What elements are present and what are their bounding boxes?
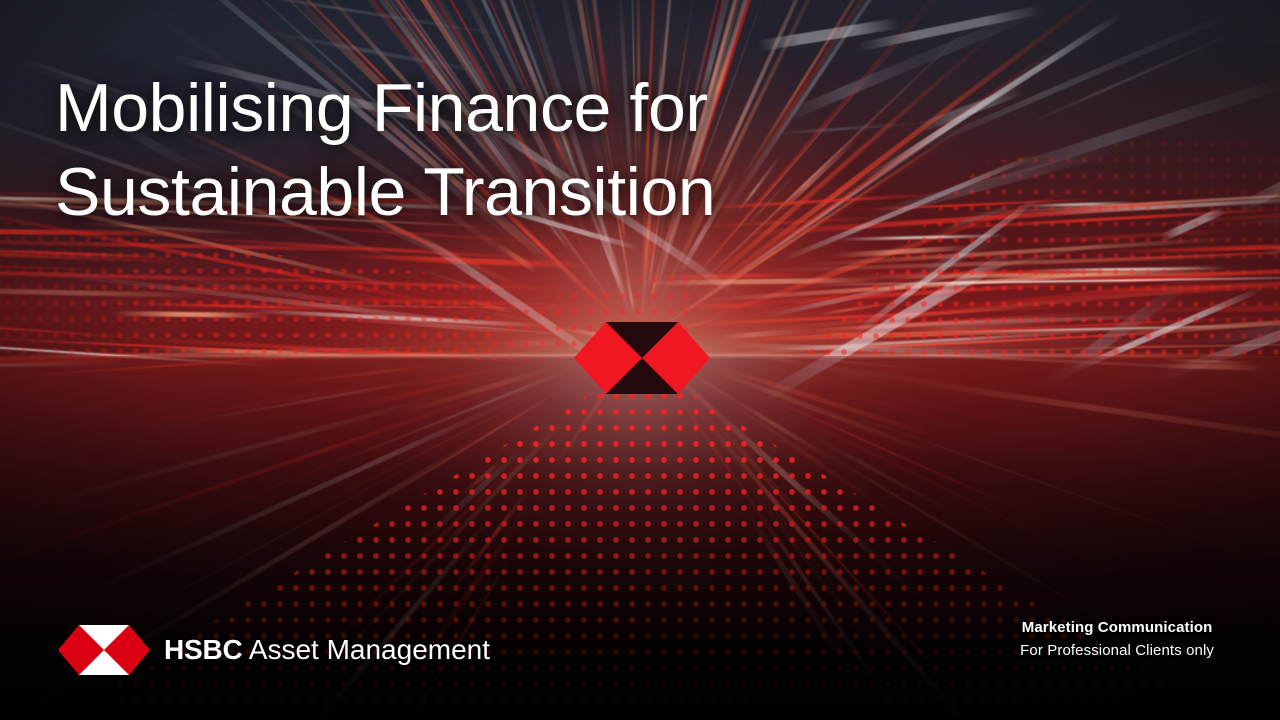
- disclaimer-secondary-text: For Professional Clients only: [1020, 639, 1214, 663]
- brand-lockup: HSBC Asset Management: [58, 625, 490, 675]
- disclaimer-primary-text: Marketing Communication: [1020, 617, 1214, 639]
- hsbc-hexagon-icon: [574, 322, 710, 394]
- brand-name-light: Asset Management: [243, 634, 490, 665]
- slide-title: Mobilising Finance for Sustainable Trans…: [55, 66, 835, 234]
- brand-name: HSBC Asset Management: [164, 636, 490, 664]
- disclaimer-block: Marketing Communication For Professional…: [1020, 617, 1214, 663]
- hsbc-hexagon-icon: [58, 625, 150, 675]
- brand-name-bold: HSBC: [164, 634, 243, 665]
- presentation-slide: Mobilising Finance for Sustainable Trans…: [0, 0, 1280, 720]
